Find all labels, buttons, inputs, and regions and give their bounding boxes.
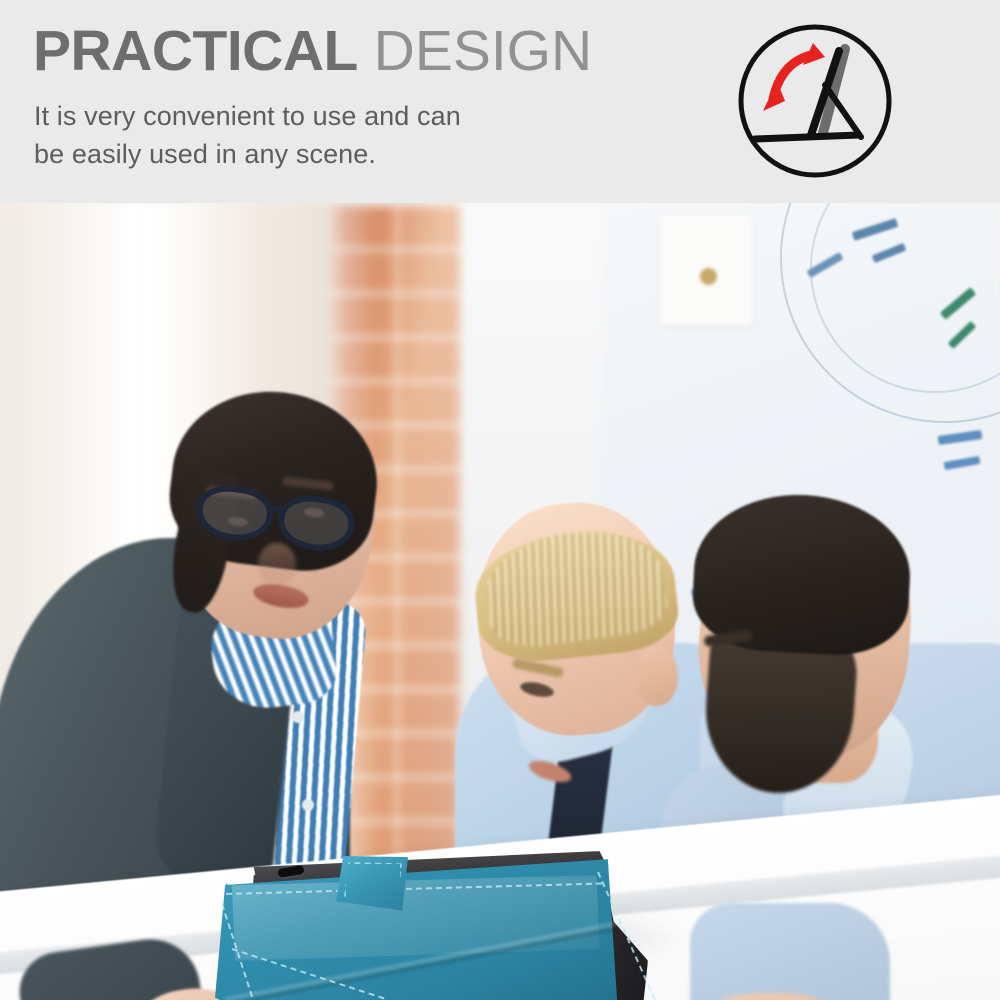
subtitle: It is very convenient to use and can be … [34, 97, 461, 174]
lifestyle-photo [0, 203, 1000, 1000]
page-title: PRACTICAL DESIGN [33, 22, 592, 80]
product-phone-case [0, 203, 1000, 1000]
subtitle-line-2: be easily used in any scene. [34, 135, 461, 173]
headline-light: DESIGN [358, 19, 592, 83]
header-band: PRACTICAL DESIGN It is very convenient t… [0, 0, 1000, 203]
subtitle-line-1: It is very convenient to use and can [34, 97, 461, 135]
adjustable-stand-angle-icon [733, 23, 897, 179]
headline-strong: PRACTICAL [33, 19, 358, 83]
